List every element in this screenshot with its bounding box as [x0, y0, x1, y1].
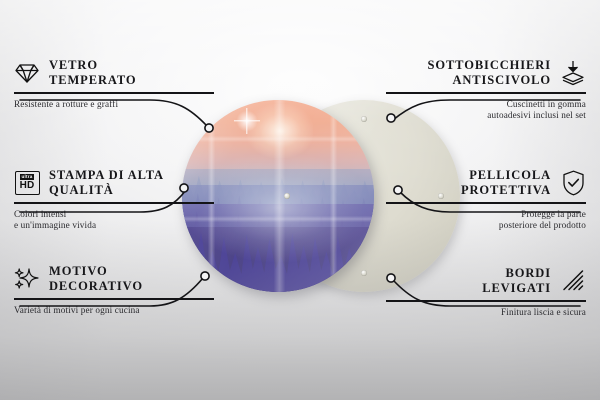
- feature-subtitle: Finitura liscia e sicura: [386, 307, 586, 318]
- feature-header: ultra HD STAMPA DI ALTAQUALITÀ: [14, 168, 214, 197]
- infographic-canvas: VETROTEMPERATO Resistente a rotture e gr…: [0, 0, 600, 400]
- diamond-icon: [14, 60, 40, 86]
- feature-divider: [386, 202, 586, 204]
- feature-vetro-temperato: VETROTEMPERATO Resistente a rotture e gr…: [14, 58, 214, 110]
- feature-title: STAMPA DI ALTAQUALITÀ: [49, 168, 164, 197]
- sparkles-icon: [14, 266, 40, 292]
- feature-divider: [14, 298, 214, 300]
- feature-subtitle: Colori intensie un'immagine vivida: [14, 209, 214, 232]
- ultra-hd-icon: ultra HD: [14, 170, 40, 196]
- feature-title: PELLICOLAPROTETTIVA: [461, 168, 551, 197]
- shield-check-icon: [560, 170, 586, 196]
- feature-header: BORDILEVIGATI: [386, 266, 586, 295]
- feature-header: PELLICOLAPROTETTIVA: [386, 168, 586, 197]
- rubber-pad: [438, 193, 444, 199]
- feature-header: MOTIVODECORATIVO: [14, 264, 214, 293]
- feature-pellicola-protettiva: PELLICOLAPROTETTIVA Protegge la partepos…: [386, 168, 586, 231]
- feature-title: BORDILEVIGATI: [482, 266, 551, 295]
- feature-divider: [14, 202, 214, 204]
- feature-subtitle: Resistente a rotture e graffi: [14, 99, 214, 110]
- rubber-pad: [361, 270, 367, 276]
- feature-subtitle: Varietà di motivi per ogni cucina: [14, 305, 214, 316]
- feature-header: SOTTOBICCHIERIANTISCIVOLO: [386, 58, 586, 87]
- feature-bordi-levigati: BORDILEVIGATI Finitura liscia e sicura: [386, 266, 586, 318]
- feature-title: MOTIVODECORATIVO: [49, 264, 143, 293]
- feature-divider: [386, 300, 586, 302]
- rubber-pad: [284, 193, 290, 199]
- smooth-edges-icon: [560, 268, 586, 294]
- feature-motivo-decorativo: MOTIVODECORATIVO Varietà di motivi per o…: [14, 264, 214, 316]
- feature-title: VETROTEMPERATO: [49, 58, 137, 87]
- feature-subtitle: Cuscinetti in gommaautoadesivi inclusi n…: [386, 99, 586, 122]
- feature-subtitle: Protegge la parteposteriore del prodotto: [386, 209, 586, 232]
- feature-sottobicchieri-antiscivolo: SOTTOBICCHIERIANTISCIVOLO Cuscinetti in …: [386, 58, 586, 121]
- feature-header: VETROTEMPERATO: [14, 58, 214, 87]
- feature-title: SOTTOBICCHIERIANTISCIVOLO: [427, 58, 551, 87]
- rubber-pad: [361, 116, 367, 122]
- press-pad-icon: [560, 60, 586, 86]
- feature-divider: [14, 92, 214, 94]
- feature-divider: [386, 92, 586, 94]
- feature-stampa-di-alta-qualita: ultra HD STAMPA DI ALTAQUALITÀ Colori in…: [14, 168, 214, 231]
